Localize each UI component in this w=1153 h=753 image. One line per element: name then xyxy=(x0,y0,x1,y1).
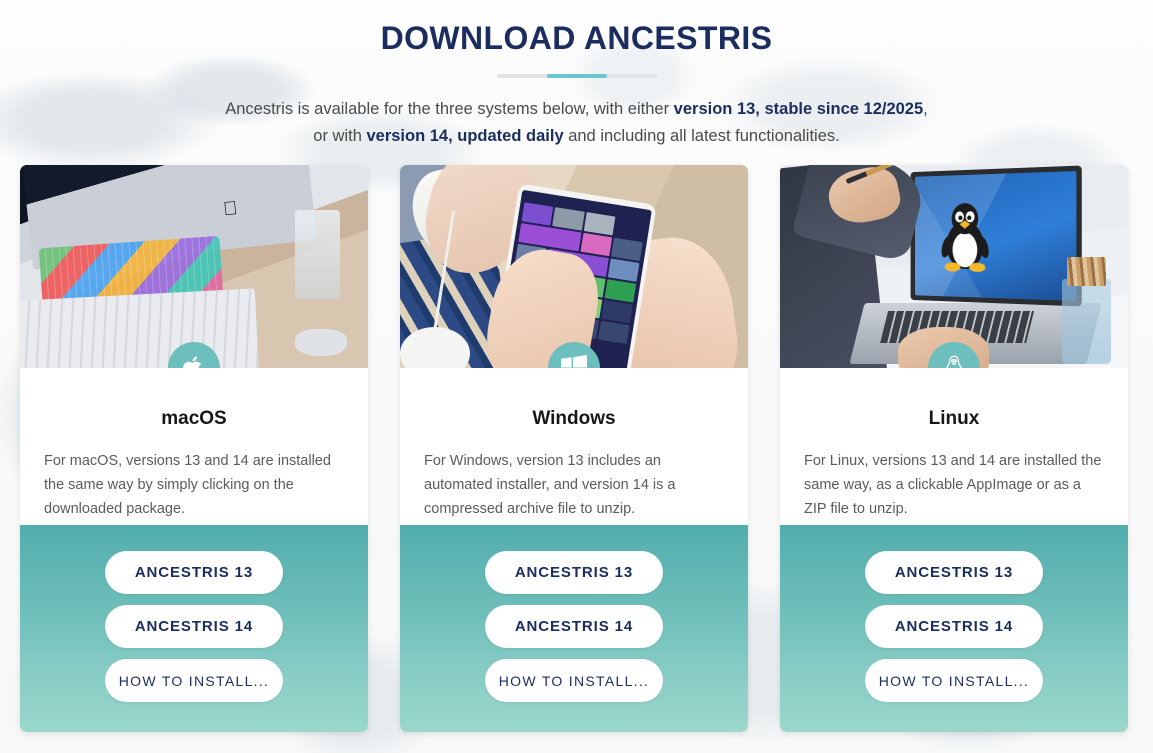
linux-card-photo xyxy=(780,165,1128,368)
subtitle-line1-pre: Ancestris is available for the three sys… xyxy=(225,100,673,118)
subtitle-line1-post: , xyxy=(923,100,928,118)
linux-ancestris-13-button[interactable]: ANCESTRIS 13 xyxy=(865,551,1043,594)
linux-how-to-install-button[interactable]: HOW TO INSTALL... xyxy=(865,659,1043,702)
macos-how-to-install-button[interactable]: HOW TO INSTALL... xyxy=(105,659,283,702)
linux-card-title: Linux xyxy=(804,408,1104,430)
apple-logo-photo-icon:  xyxy=(222,199,240,220)
windows-card-description: For Windows, version 13 includes an auto… xyxy=(424,449,724,521)
title-divider-accent xyxy=(547,74,607,78)
subtitle-line2-pre: or with xyxy=(313,127,366,145)
glass-illustration xyxy=(295,210,340,299)
linux-card-description: For Linux, versions 13 and 14 are instal… xyxy=(804,449,1104,521)
laptop-wallpaper xyxy=(915,171,1076,301)
pencil-cup-illustration xyxy=(1062,279,1111,364)
laptop-screen-illustration xyxy=(911,166,1082,307)
subtitle-line2-bold: version 14, updated daily xyxy=(366,127,563,145)
linux-card-actions: ANCESTRIS 13 ANCESTRIS 14 HOW TO INSTALL… xyxy=(780,525,1128,732)
macos-ancestris-13-button[interactable]: ANCESTRIS 13 xyxy=(105,551,283,594)
subtitle-line1-bold: version 13, stable since 12/2025 xyxy=(674,100,924,118)
tux-wallpaper-icon xyxy=(939,189,992,283)
download-card-windows: Windows For Windows, version 13 includes… xyxy=(400,165,748,732)
download-card-macos:  macOS For macOS, versions 13 and 14 ar… xyxy=(20,165,368,732)
download-card-linux: Linux For Linux, versions 13 and 14 are … xyxy=(780,165,1128,732)
title-divider xyxy=(497,74,657,78)
windows-card-title: Windows xyxy=(424,408,724,430)
macos-card-title: macOS xyxy=(44,408,344,430)
page-subtitle: Ancestris is available for the three sys… xyxy=(0,96,1153,150)
windows-how-to-install-button[interactable]: HOW TO INSTALL... xyxy=(485,659,663,702)
windows-ancestris-13-button[interactable]: ANCESTRIS 13 xyxy=(485,551,663,594)
macos-card-body: macOS For macOS, versions 13 and 14 are … xyxy=(20,368,368,525)
subtitle-line2-post: and including all latest functionalities… xyxy=(564,127,840,145)
download-page: DOWNLOAD ANCESTRIS Ancestris is availabl… xyxy=(0,0,1153,753)
windows-card-photo xyxy=(400,165,748,368)
keyboard-illustration xyxy=(20,288,259,368)
windows-ancestris-14-button[interactable]: ANCESTRIS 14 xyxy=(485,605,663,648)
mouse-illustration xyxy=(295,329,347,355)
linux-card-body: Linux For Linux, versions 13 and 14 are … xyxy=(780,368,1128,525)
macos-card-photo:  xyxy=(20,165,368,368)
windows-card-actions: ANCESTRIS 13 ANCESTRIS 14 HOW TO INSTALL… xyxy=(400,525,748,732)
macos-ancestris-14-button[interactable]: ANCESTRIS 14 xyxy=(105,605,283,648)
earphone-illustration xyxy=(400,327,470,368)
macos-card-description: For macOS, versions 13 and 14 are instal… xyxy=(44,449,344,521)
os-cards-row:  macOS For macOS, versions 13 and 14 ar… xyxy=(20,165,1133,732)
macos-card-actions: ANCESTRIS 13 ANCESTRIS 14 HOW TO INSTALL… xyxy=(20,525,368,732)
linux-ancestris-14-button[interactable]: ANCESTRIS 14 xyxy=(865,605,1043,648)
windows-card-body: Windows For Windows, version 13 includes… xyxy=(400,368,748,525)
page-title: DOWNLOAD ANCESTRIS xyxy=(0,0,1153,58)
